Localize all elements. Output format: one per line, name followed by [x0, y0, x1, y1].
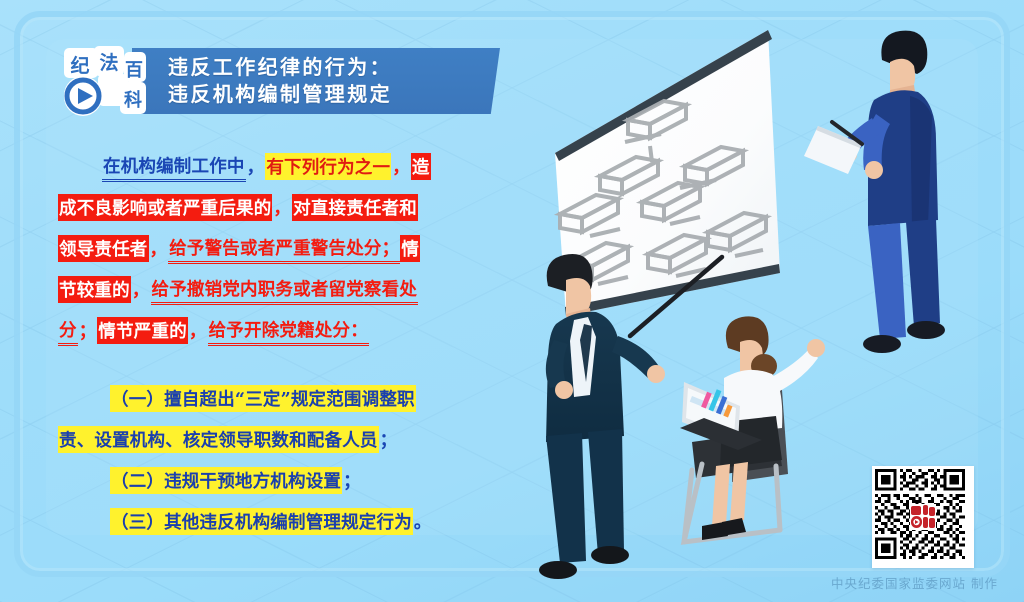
text-segment: 责、设置机构、核定领导职数和配备人员: [58, 426, 379, 453]
footer-credit: 中央纪委国家监委网站 制作: [831, 573, 998, 592]
logo-char-1: 纪: [70, 54, 89, 77]
text-line: （一）擅自超出“三定”规定范围调整职: [58, 378, 468, 419]
text-line: （三）其他违反机构编制管理规定行为。: [58, 501, 468, 542]
logo-char-2: 法: [99, 51, 118, 74]
text-segment: （三）其他违反机构编制管理规定行为: [110, 508, 413, 535]
text-segment: 成不良影响或者严重后果的: [58, 194, 272, 221]
qr-center-logo: [910, 504, 936, 530]
text-line: 成不良影响或者严重后果的，对直接责任者和: [58, 187, 462, 228]
text-segment: ，: [131, 277, 151, 302]
text-segment: 分: [58, 316, 78, 346]
text-segment: ，: [391, 154, 411, 179]
text-segment: 造: [411, 153, 431, 180]
observer-figure: [804, 31, 945, 353]
logo-char-3: 百: [125, 60, 143, 81]
page-title-line1: 违反工作纪律的行为：: [168, 54, 478, 81]
text-segment: 在机构编制工作中: [102, 152, 246, 182]
text-segment: ，: [149, 236, 169, 261]
text-segment: ；: [78, 318, 98, 343]
text-segment: 情节严重的: [97, 317, 188, 344]
text-segment: ；: [379, 426, 399, 453]
text-segment: （一）擅自超出“三定”规定范围调整职: [110, 385, 416, 412]
text-segment: ，: [246, 154, 266, 179]
page-title-line2: 违反机构编制管理规定: [168, 81, 478, 108]
header: 纪 法 百 科 违反工作纪律的行为： 违反机构编制管理规定: [62, 48, 500, 114]
body-paragraph: 在机构编制工作中，有下列行为之一，造成不良影响或者严重后果的，对直接责任者和领导…: [58, 146, 462, 351]
text-line: 领导责任者，给予警告或者严重警告处分；情: [58, 228, 462, 269]
text-segment: 给予撤销党内职务或者留党察看处: [151, 275, 419, 305]
poster-root: 纪 法 百 科 违反工作纪律的行为： 违反机构编制管理规定 在机构编制工作中，有…: [0, 0, 1024, 602]
text-line: （二）违规干预地方机构设置；: [58, 460, 468, 501]
text-segment: 情: [400, 235, 420, 262]
text-segment: 给予开除党籍处分：: [208, 316, 369, 346]
logo-char-4: 科: [124, 89, 142, 111]
text-segment: 给予警告或者严重警告处分；: [168, 234, 400, 264]
text-segment: ，: [188, 318, 208, 343]
text-line: 在机构编制工作中，有下列行为之一，造: [58, 146, 462, 187]
text-segment: 。: [413, 508, 433, 535]
violation-list: （一）擅自超出“三定”规定范围调整职责、设置机构、核定领导职数和配备人员；（二）…: [58, 378, 468, 542]
text-segment: 节较重的: [58, 276, 131, 303]
text-line: 节较重的，给予撤销党内职务或者留党察看处: [58, 269, 462, 310]
text-line: 责、设置机构、核定领导职数和配备人员；: [58, 419, 468, 460]
text-line: 分；情节严重的，给予开除党籍处分：: [58, 310, 462, 351]
text-segment: 对直接责任者和: [292, 194, 418, 221]
text-segment: ，: [272, 195, 292, 220]
brand-logo: 纪 法 百 科: [62, 44, 148, 118]
text-segment: 有下列行为之一: [265, 153, 391, 180]
qr-code[interactable]: [872, 466, 974, 568]
text-segment: ；: [342, 467, 362, 494]
text-segment: （二）违规干预地方机构设置: [110, 467, 342, 494]
title-banner: 违反工作纪律的行为： 违反机构编制管理规定: [132, 48, 500, 114]
text-segment: 领导责任者: [58, 235, 149, 262]
